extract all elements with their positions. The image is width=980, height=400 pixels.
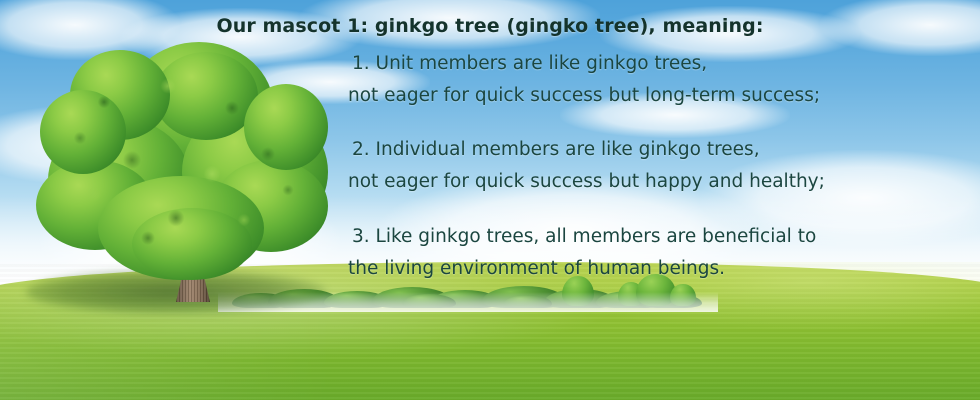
mascot-meaning-item-3-line-1: 3. Like ginkgo trees, all members are be…: [348, 221, 816, 253]
mascot-meaning-item-1-line-2: not eager for quick success but long-ter…: [348, 80, 820, 112]
banner-text-block: Our mascot 1: ginkgo tree (gingko tree),…: [0, 0, 980, 300]
mascot-meaning-item-2-line-2: not eager for quick success but happy an…: [348, 166, 825, 198]
ginkgo-mascot-banner: Our mascot 1: ginkgo tree (gingko tree),…: [0, 0, 980, 400]
mascot-meaning-item-1-line-1: 1. Unit members are like ginkgo trees,: [348, 48, 820, 80]
mascot-meaning-item-3-line-2: the living environment of human beings.: [348, 253, 816, 285]
mascot-meaning-item-1: 1. Unit members are like ginkgo trees, n…: [348, 48, 820, 112]
page-title: Our mascot 1: ginkgo tree (gingko tree),…: [0, 15, 980, 37]
mascot-meaning-item-2: 2. Individual members are like ginkgo tr…: [348, 134, 825, 198]
mascot-meaning-item-3: 3. Like ginkgo trees, all members are be…: [348, 221, 816, 285]
mascot-meaning-item-2-line-1: 2. Individual members are like ginkgo tr…: [348, 134, 825, 166]
